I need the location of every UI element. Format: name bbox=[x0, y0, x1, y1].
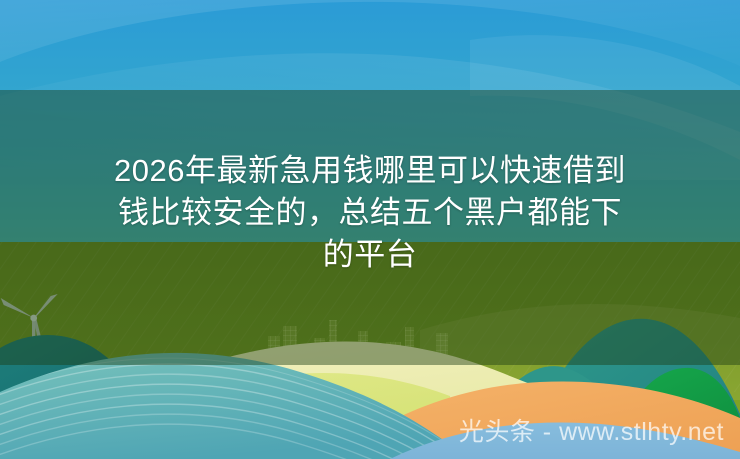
watermark-text: 光头条 - www.stlhty.net bbox=[459, 417, 724, 447]
page-title: 2026年最新急用钱哪里可以快速借到 钱比较安全的，总结五个黑户都能下 的平台 bbox=[0, 150, 740, 276]
title-line-1: 2026年最新急用钱哪里可以快速借到 bbox=[40, 150, 700, 192]
title-line-3: 的平台 bbox=[40, 234, 700, 276]
poster-image: 2026年最新急用钱哪里可以快速借到 钱比较安全的，总结五个黑户都能下 的平台 … bbox=[0, 0, 740, 459]
title-line-2: 钱比较安全的，总结五个黑户都能下 bbox=[40, 192, 700, 234]
